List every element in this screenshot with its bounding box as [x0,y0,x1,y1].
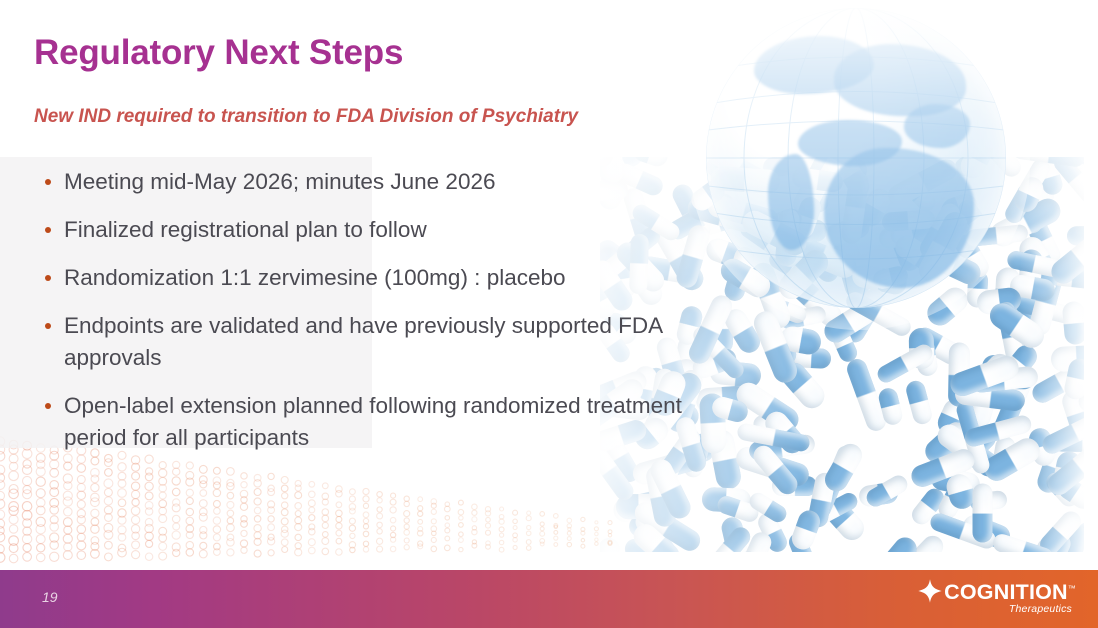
logo-tagline: Therapeutics [917,603,1076,615]
list-item: Endpoints are validated and have previou… [38,310,738,374]
logo-wordmark: COGNITION™ [944,578,1076,603]
list-item: Meeting mid-May 2026; minutes June 2026 [38,166,738,198]
bullet-dot-icon [45,403,51,409]
page-subtitle: New IND required to transition to FDA Di… [34,106,578,128]
globe-image [706,8,1006,308]
bullet-text: Randomization 1:1 zervimesine (100mg) : … [64,265,566,290]
bullet-dot-icon [45,323,51,329]
bullet-dot-icon [45,227,51,233]
bullet-dot-icon [45,179,51,185]
bullet-text: Open-label extension planned following r… [64,393,682,450]
globe-grid-icon [706,8,1006,308]
bullet-text: Endpoints are validated and have previou… [64,313,662,370]
bullet-text: Finalized registrational plan to follow [64,217,427,242]
footer-bar: 19 COGNITION™ Therapeutics [0,570,1098,628]
list-item: Randomization 1:1 zervimesine (100mg) : … [38,262,738,294]
bullet-text: Meeting mid-May 2026; minutes June 2026 [64,169,496,194]
bullet-dot-icon [45,275,51,281]
logo-word-text: COGNITION [944,581,1068,605]
bullet-list: Meeting mid-May 2026; minutes June 2026 … [38,166,738,470]
list-item: Open-label extension planned following r… [38,390,738,454]
trademark-icon: ™ [1068,584,1076,593]
company-logo: COGNITION™ Therapeutics [917,578,1076,620]
page-number: 19 [42,589,58,605]
globe-fade-overlay [690,0,1030,330]
slide: Regulatory Next Steps New IND required t… [0,0,1098,628]
list-item: Finalized registrational plan to follow [38,214,738,246]
page-title: Regulatory Next Steps [34,33,403,73]
star-burst-icon [917,578,943,604]
